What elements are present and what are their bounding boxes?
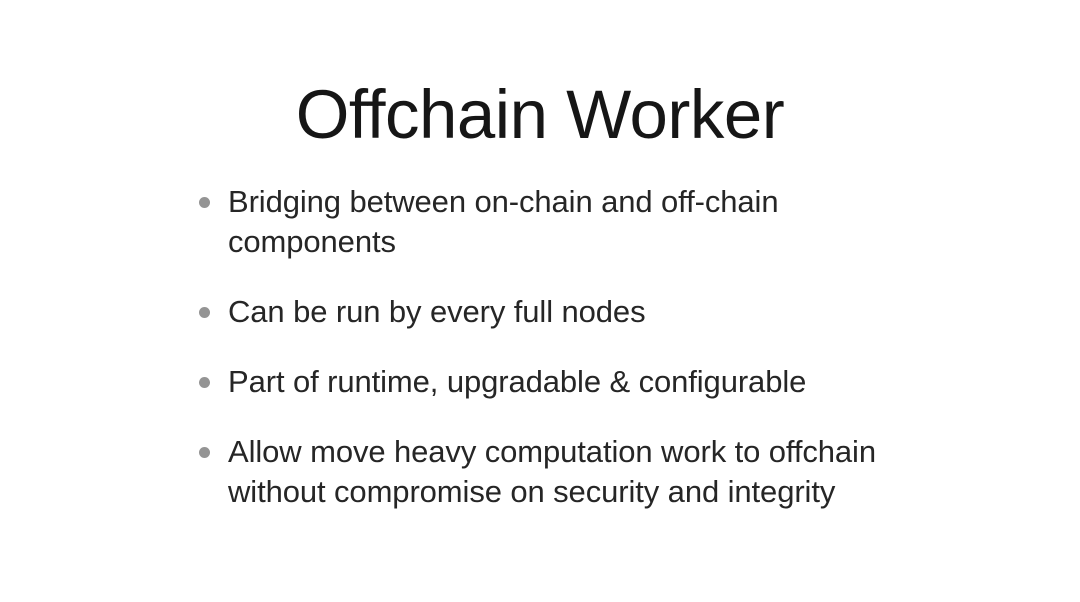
bullet-dot-icon	[199, 447, 210, 458]
slide-title: Offchain Worker	[0, 76, 1080, 153]
bullet-dot-icon	[199, 197, 210, 208]
list-item: Allow move heavy computation work to off…	[196, 432, 896, 512]
list-item-text: Bridging between on-chain and off-chain …	[228, 182, 896, 262]
list-item-text: Part of runtime, upgradable & configurab…	[228, 362, 896, 402]
list-item-text: Allow move heavy computation work to off…	[228, 432, 896, 512]
list-item: Bridging between on-chain and off-chain …	[196, 182, 896, 262]
bullet-dot-icon	[199, 307, 210, 318]
presentation-slide: Offchain Worker Bridging between on-chai…	[0, 0, 1080, 602]
list-item: Can be run by every full nodes	[196, 292, 896, 332]
bullet-list: Bridging between on-chain and off-chain …	[196, 182, 896, 512]
list-item-text: Can be run by every full nodes	[228, 292, 896, 332]
bullet-dot-icon	[199, 377, 210, 388]
list-item: Part of runtime, upgradable & configurab…	[196, 362, 896, 402]
